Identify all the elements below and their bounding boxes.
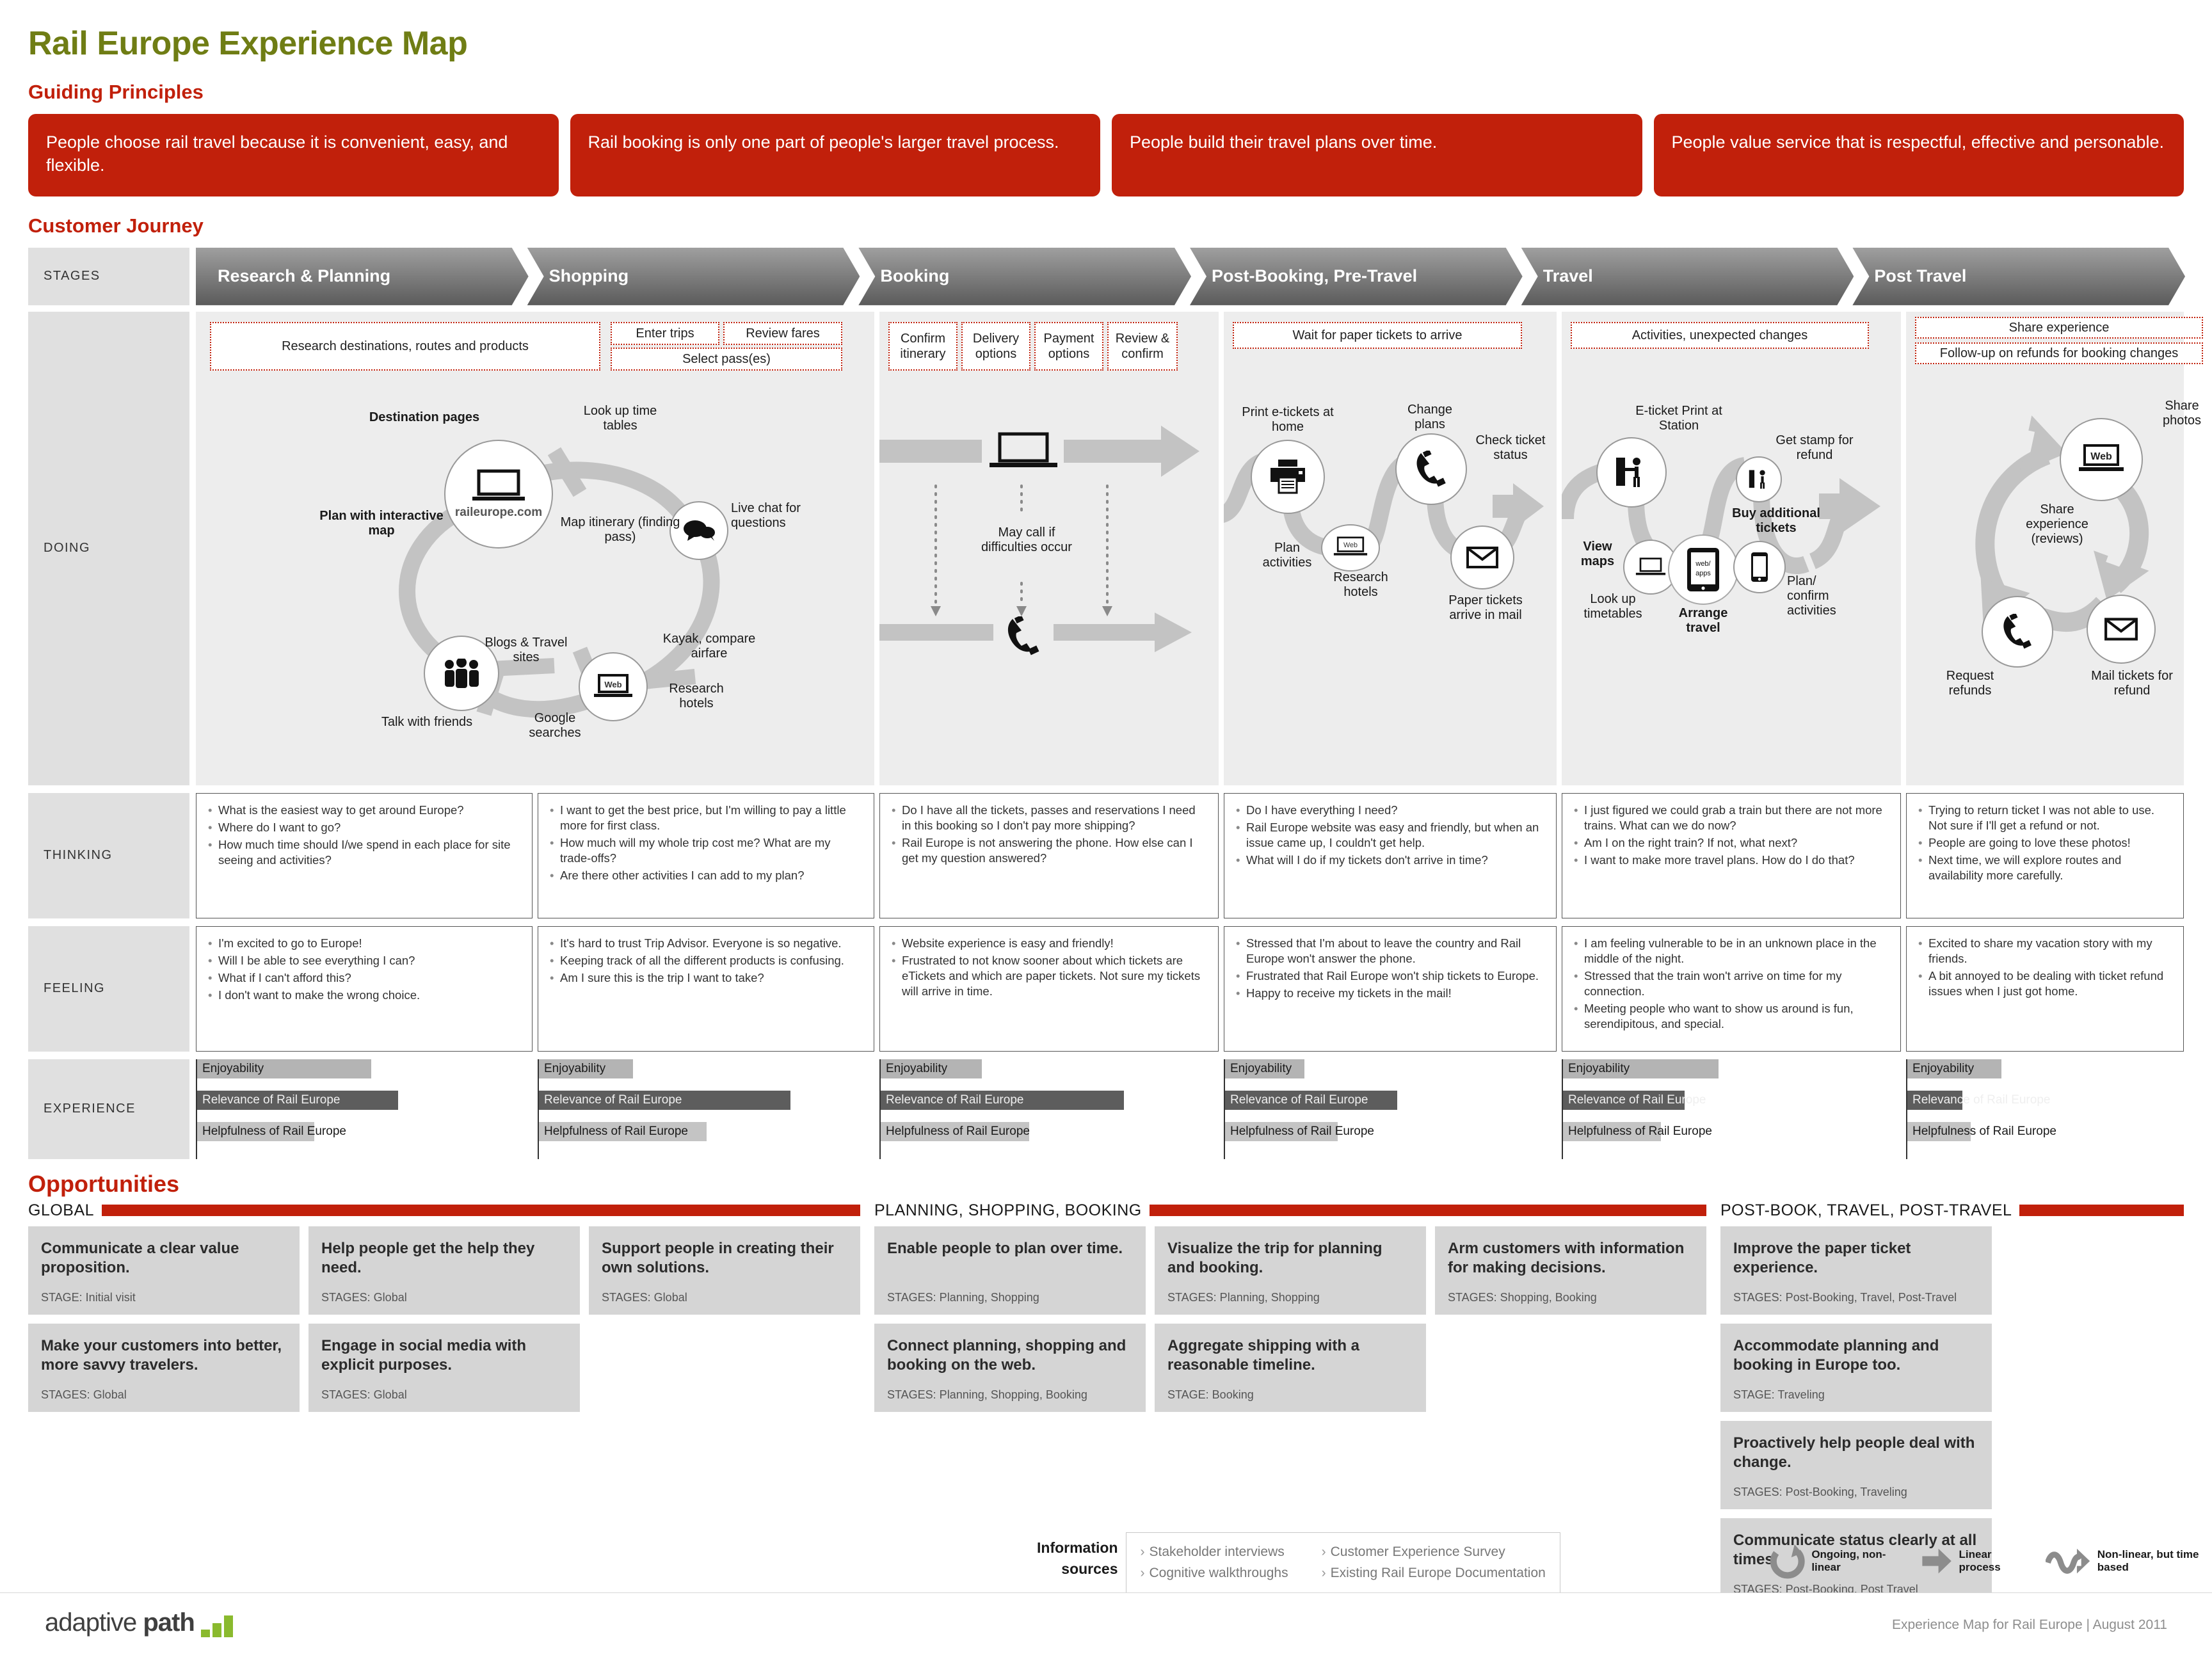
- node-booking-laptop[interactable]: [988, 432, 1059, 472]
- task-row-booking: Confirm itinerary Delivery options Payme…: [879, 312, 1219, 381]
- label-talk-with-friends: Talk with friends: [379, 715, 475, 730]
- bar-helpfulness: Helpfulness of Rail Europe: [1563, 1122, 1661, 1141]
- opportunity-group-rule: [1150, 1205, 1706, 1216]
- feeling-group-research-shopping: I'm excited to go to Europe! Will I be a…: [196, 926, 874, 1052]
- guiding-principles-row: People choose rail travel because it is …: [28, 114, 2184, 196]
- task-share-experience[interactable]: Share experience: [1915, 317, 2203, 339]
- doing-row: DOING Research destinations, routes and …: [28, 312, 2184, 785]
- opportunity-card[interactable]: Enable people to plan over time. STAGES:…: [874, 1226, 1146, 1315]
- doing-canvas-booking: May call if difficulties occur: [879, 381, 1219, 765]
- envelope-icon: [2104, 616, 2138, 642]
- opportunity-group-label: PLANNING, SHOPPING, BOOKING: [874, 1201, 1142, 1220]
- svg-text:apps: apps: [1695, 570, 1711, 577]
- customer-journey-heading: Customer Journey: [28, 214, 2184, 237]
- thinking-group-research-shopping: What is the easiest way to get around Eu…: [196, 793, 874, 918]
- information-sources-label-line1: Information: [1037, 1537, 1118, 1559]
- label-kayak-compare-airfare: Kayak, compare airfare: [652, 632, 767, 661]
- row-label-feeling: FEELING: [28, 926, 189, 1052]
- task-confirm-itinerary[interactable]: Confirm itinerary: [888, 322, 958, 371]
- information-sources-label-line2: sources: [1037, 1559, 1118, 1580]
- stage-post-booking[interactable]: Post-Booking, Pre-Travel: [1190, 248, 1523, 305]
- information-sources-col2: Customer Experience Survey Existing Rail…: [1322, 1542, 1546, 1583]
- list-item: What will I do if my tickets don't arriv…: [1235, 853, 1546, 868]
- opportunity-title: Arm customers with information for makin…: [1448, 1239, 1694, 1278]
- list-item: Do I have everything I need?: [1235, 803, 1546, 818]
- opportunity-stages: STAGE: Traveling: [1733, 1388, 1979, 1402]
- bar-helpfulness: Helpfulness of Rail Europe: [197, 1122, 314, 1141]
- label-may-call-difficulties: May call if difficulties occur: [975, 525, 1078, 555]
- laptop-icon: [988, 432, 1059, 469]
- label-google-searches: Google searches: [507, 711, 603, 741]
- label-arrange-travel: Arrange travel: [1665, 606, 1741, 636]
- opportunity-title: Help people get the help they need.: [321, 1239, 567, 1278]
- opportunity-card[interactable]: Accommodate planning and booking in Euro…: [1720, 1324, 1992, 1412]
- bar-relevance: Relevance of Rail Europe: [197, 1091, 398, 1110]
- thinking-card-post-travel: Trying to return ticket I was not able t…: [1906, 793, 2184, 918]
- list-item: I want to get the best price, but I'm wi…: [549, 803, 863, 833]
- label-plan-activities: Plan activities: [1252, 541, 1322, 570]
- brand-text: adaptive path: [45, 1608, 195, 1637]
- circular-arrow-icon: [1767, 1537, 1806, 1585]
- legend-item-linear: Linear process: [1920, 1541, 2024, 1581]
- task-review-confirm[interactable]: Review & confirm: [1107, 322, 1178, 371]
- legend: Ongoing, non-linear Linear process Non-l…: [1767, 1537, 2212, 1585]
- bar-helpfulness: Helpfulness of Rail Europe: [1225, 1122, 1338, 1141]
- node-share-photos-web[interactable]: Web: [2060, 418, 2143, 501]
- experience-chart: Enjoyability Relevance of Rail Europe He…: [196, 1059, 2184, 1159]
- opportunity-card-placeholder: [1435, 1324, 1706, 1412]
- feeling-card-travel: I am feeling vulnerable to be in an unkn…: [1562, 926, 1901, 1052]
- node-eticket-print-station[interactable]: [1596, 437, 1667, 508]
- information-sources-box: Stakeholder interviews Cognitive walkthr…: [1126, 1532, 1560, 1593]
- label-view-maps: View maps: [1571, 540, 1624, 569]
- label-share-photos: Share photos: [2144, 399, 2212, 428]
- opportunity-title: Enable people to plan over time.: [887, 1239, 1133, 1258]
- bar-helpfulness: Helpfulness of Rail Europe: [539, 1122, 707, 1141]
- opportunity-card[interactable]: Improve the paper ticket experience. STA…: [1720, 1226, 1992, 1315]
- task-activities-changes[interactable]: Activities, unexpected changes: [1571, 322, 1869, 349]
- guiding-principle-card: People value service that is respectful,…: [1654, 114, 2184, 196]
- laptop-web-icon: Web: [2078, 444, 2125, 475]
- opportunity-title: Engage in social media with explicit pur…: [321, 1336, 567, 1375]
- thinking-card-booking: Do I have all the tickets, passes and re…: [879, 793, 1219, 918]
- guiding-principle-card: Rail booking is only one part of people'…: [570, 114, 1101, 196]
- bar-relevance: Relevance of Rail Europe: [881, 1091, 1124, 1110]
- row-label-thinking: THINKING: [28, 793, 189, 918]
- task-review-fares[interactable]: Review fares: [723, 322, 842, 345]
- label-mail-tickets-refund: Mail tickets for refund: [2090, 669, 2174, 698]
- opportunity-card[interactable]: Aggregate shipping with a reasonable tim…: [1155, 1324, 1426, 1412]
- feeling-card-post-booking: Stressed that I'm about to leave the cou…: [1224, 926, 1557, 1052]
- label-map-itinerary: Map itinerary (finding pass): [559, 515, 681, 545]
- opportunity-card[interactable]: Make your customers into better, more sa…: [28, 1324, 300, 1412]
- experience-col-post-travel: Enjoyability Relevance of Rail Europe He…: [1906, 1059, 2184, 1159]
- guiding-principle-card: People choose rail travel because it is …: [28, 114, 559, 196]
- doing-post-travel-panel: Share experience Follow-up on refunds fo…: [1906, 312, 2184, 785]
- feeling-card-research-planning: I'm excited to go to Europe! Will I be a…: [196, 926, 533, 1052]
- information-sources: Information sources Stakeholder intervie…: [1037, 1532, 1560, 1593]
- label-print-etickets-home: Print e-tickets at home: [1238, 405, 1338, 435]
- journey-grid: STAGES Research & Planning Shopping Book…: [28, 248, 2184, 1159]
- node-get-stamp-refund[interactable]: [1736, 456, 1782, 502]
- opportunity-title: Communicate a clear value proposition.: [41, 1239, 287, 1278]
- opportunity-stages: STAGES: Global: [321, 1388, 567, 1402]
- feeling-card-post-travel: Excited to share my vacation story with …: [1906, 926, 2184, 1052]
- feeling-card-booking: Website experience is easy and friendly!…: [879, 926, 1219, 1052]
- kiosk-person-icon: [1747, 467, 1770, 492]
- experience-col-shopping: Enjoyability Relevance of Rail Europe He…: [538, 1059, 874, 1159]
- straight-arrow-icon: [1920, 1541, 1953, 1581]
- node-mail-tickets-refund[interactable]: [2087, 595, 2156, 664]
- doing-post-booking-panel: Wait for paper tickets to arrive: [1224, 312, 1557, 785]
- opportunity-stages: STAGES: Planning, Shopping, Booking: [887, 1388, 1133, 1402]
- list-item: Frustrated to not know sooner about whic…: [890, 953, 1208, 999]
- task-row-post-booking: Wait for paper tickets to arrive: [1224, 312, 1557, 381]
- stage-research-planning[interactable]: Research & Planning: [196, 248, 529, 305]
- bar-relevance: Relevance of Rail Europe: [1225, 1091, 1397, 1110]
- list-item: Rail Europe website was easy and friendl…: [1235, 820, 1546, 851]
- experience-map-page: Rail Europe Experience Map Guiding Princ…: [0, 0, 2212, 1659]
- opportunity-card[interactable]: Support people in creating their own sol…: [589, 1226, 860, 1315]
- phone-handset-icon: [2001, 614, 2034, 650]
- doing-research-shopping-panel: Research destinations, routes and produc…: [196, 312, 874, 785]
- task-followup-refunds[interactable]: Follow-up on refunds for booking changes: [1915, 342, 2203, 364]
- stage-post-travel[interactable]: Post Travel: [1852, 248, 2185, 305]
- experience-col-research-planning: Enjoyability Relevance of Rail Europe He…: [196, 1059, 533, 1159]
- information-sources-label: Information sources: [1037, 1532, 1126, 1593]
- label-eticket-print-station: E-ticket Print at Station: [1631, 404, 1727, 433]
- kiosk-person-icon: [1615, 455, 1648, 490]
- opportunity-group-header: GLOBAL: [28, 1201, 860, 1220]
- label-request-refunds: Request refunds: [1932, 669, 2008, 698]
- printer-icon: [1268, 458, 1308, 495]
- node-booking-phone[interactable]: [1005, 616, 1042, 659]
- list-item: Are there other activities I can add to …: [549, 868, 863, 883]
- experience-row: EXPERIENCE Enjoyability Relevance of Rai…: [28, 1059, 2184, 1159]
- label-check-ticket-status: Check ticket status: [1466, 433, 1555, 463]
- node-arrange-travel-tablet[interactable]: web/ apps: [1668, 534, 1738, 605]
- task-enter-trips[interactable]: Enter trips: [611, 322, 719, 345]
- list-item: Cognitive walkthroughs: [1141, 1563, 1288, 1584]
- legend-item-nonlinear: Non-linear, but time based: [2046, 1541, 2212, 1581]
- phone-handset-icon: [1414, 451, 1448, 488]
- list-item: What if I can't afford this?: [207, 970, 522, 986]
- opportunity-stages: STAGES: Global: [41, 1388, 287, 1402]
- label-research-hotels: Research hotels: [652, 682, 741, 711]
- bar-enjoyability: Enjoyability: [197, 1059, 371, 1078]
- bar-relevance: Relevance of Rail Europe: [539, 1091, 790, 1110]
- brand-bold: path: [143, 1608, 194, 1637]
- list-item: Existing Rail Europe Documentation: [1322, 1563, 1546, 1584]
- laptop-icon: [1635, 557, 1667, 577]
- bar-relevance: Relevance of Rail Europe: [1907, 1091, 1962, 1110]
- opportunity-title: Visualize the trip for planning and book…: [1167, 1239, 1413, 1278]
- flow-ring-research: [196, 381, 874, 765]
- stages-row: STAGES Research & Planning Shopping Book…: [28, 248, 2184, 305]
- opportunity-card[interactable]: Help people get the help they need. STAG…: [309, 1226, 580, 1315]
- bar-enjoyability: Enjoyability: [1225, 1059, 1304, 1078]
- list-item: Meeting people who want to show us aroun…: [1573, 1001, 1890, 1032]
- thinking-row: THINKING What is the easiest way to get …: [28, 793, 2184, 918]
- label-get-stamp-refund: Get stamp for refund: [1773, 433, 1856, 463]
- bar-helpfulness: Helpfulness of Rail Europe: [1907, 1122, 1971, 1141]
- list-item: Customer Experience Survey: [1322, 1542, 1546, 1563]
- task-research-destinations[interactable]: Research destinations, routes and produc…: [210, 322, 600, 371]
- adaptive-path-logo: adaptive path: [45, 1608, 242, 1637]
- node-raileurope-laptop[interactable]: raileurope.com: [444, 440, 553, 549]
- label-look-up-time-tables: Look up time tables: [566, 404, 675, 433]
- stage-travel[interactable]: Travel: [1521, 248, 1854, 305]
- opportunity-stages: STAGES: Planning, Shopping: [887, 1291, 1133, 1304]
- opportunity-stages: STAGE: Initial visit: [41, 1291, 287, 1304]
- bar-enjoyability: Enjoyability: [1907, 1059, 2001, 1078]
- list-item: Where do I want to go?: [207, 820, 522, 835]
- label-buy-additional-tickets: Buy additional tickets: [1722, 506, 1831, 536]
- opportunity-card[interactable]: Communicate a clear value proposition. S…: [28, 1226, 300, 1315]
- list-item: Trying to return ticket I was not able t…: [1917, 803, 2173, 833]
- opportunity-group-label: POST-BOOK, TRAVEL, POST-TRAVEL: [1720, 1201, 2012, 1220]
- opportunity-stages: STAGES: Post-Booking, Travel, Post-Trave…: [1733, 1291, 1979, 1304]
- list-item: Stressed that I'm about to leave the cou…: [1235, 936, 1546, 966]
- label-paper-tickets-arrive: Paper tickets arrive in mail: [1438, 593, 1534, 623]
- list-item: Am I on the right train? If not, what ne…: [1573, 835, 1890, 851]
- list-item: Will I be able to see everything I can?: [207, 953, 522, 968]
- opportunity-group-header: POST-BOOK, TRAVEL, POST-TRAVEL: [1720, 1201, 2184, 1220]
- svg-text:Web: Web: [604, 680, 621, 689]
- doing-canvas-research: raileurope.com: [196, 381, 874, 765]
- wavy-arrow-icon: [2046, 1541, 2092, 1581]
- information-sources-col1: Stakeholder interviews Cognitive walkthr…: [1141, 1542, 1288, 1583]
- opportunity-group-header: PLANNING, SHOPPING, BOOKING: [874, 1201, 1706, 1220]
- guiding-principle-card: People build their travel plans over tim…: [1112, 114, 1642, 196]
- bar-enjoyability: Enjoyability: [881, 1059, 982, 1078]
- row-label-stages: STAGES: [28, 248, 189, 305]
- envelope-icon: [1466, 545, 1499, 570]
- list-item: I am feeling vulnerable to be in an unkn…: [1573, 936, 1890, 966]
- doing-canvas-travel: web/ apps E-ticket: [1562, 381, 1901, 765]
- task-row-research-shopping: Research destinations, routes and produc…: [196, 312, 874, 381]
- list-item: A bit annoyed to be dealing with ticket …: [1917, 968, 2173, 999]
- doing-canvas-post-travel: Web: [1906, 381, 2184, 765]
- task-row-post-travel: Share experience Follow-up on refunds fo…: [1906, 312, 2184, 381]
- list-item: Stakeholder interviews: [1141, 1542, 1288, 1563]
- list-item: Stressed that the train won't arrive on …: [1573, 968, 1890, 999]
- svg-text:web/: web/: [1695, 560, 1711, 568]
- doing-travel-panel: Activities, unexpected changes: [1562, 312, 1901, 785]
- opportunity-card[interactable]: Arm customers with information for makin…: [1435, 1226, 1706, 1315]
- opportunity-card[interactable]: Connect planning, shopping and booking o…: [874, 1324, 1146, 1412]
- post-travel-ring: [1906, 381, 2212, 765]
- legend-label: Non-linear, but time based: [2097, 1548, 2212, 1575]
- opportunity-stages: STAGES: Shopping, Booking: [1448, 1291, 1694, 1304]
- label-blogs-travel-sites: Blogs & Travel sites: [475, 636, 577, 665]
- opportunity-card-placeholder: [589, 1324, 860, 1412]
- node-caption: raileurope.com: [455, 506, 542, 520]
- thinking-card-shopping: I want to get the best price, but I'm wi…: [538, 793, 874, 918]
- task-row-travel: Activities, unexpected changes: [1562, 312, 1901, 381]
- label-change-plans: Change plans: [1393, 403, 1467, 432]
- node-paper-tickets-mail[interactable]: [1450, 525, 1514, 589]
- list-item: Next time, we will explore routes and av…: [1917, 853, 2173, 883]
- row-label-doing: DOING: [28, 312, 189, 785]
- experience-col-booking: Enjoyability Relevance of Rail Europe He…: [879, 1059, 1219, 1159]
- experience-col-travel: Enjoyability Relevance of Rail Europe He…: [1562, 1059, 1901, 1159]
- node-request-refunds-phone[interactable]: [1982, 596, 2053, 668]
- legend-item-ongoing: Ongoing, non-linear: [1767, 1537, 1898, 1585]
- list-item: I want to make more travel plans. How do…: [1573, 853, 1890, 868]
- thinking-card-travel: I just figured we could grab a train but…: [1562, 793, 1901, 918]
- thinking-card-post-booking: Do I have everything I need? Rail Europe…: [1224, 793, 1557, 918]
- stage-shopping[interactable]: Shopping: [527, 248, 860, 305]
- node-change-plans-phone[interactable]: [1395, 433, 1467, 505]
- label-destination-pages: Destination pages: [364, 410, 485, 425]
- opportunity-stages: STAGES: Global: [321, 1291, 567, 1304]
- label-live-chat-questions: Live chat for questions: [731, 501, 833, 531]
- doing-booking-panel: Confirm itinerary Delivery options Payme…: [879, 312, 1219, 785]
- laptop-web-icon: Web: [593, 674, 633, 700]
- svg-text:Web: Web: [1343, 541, 1358, 549]
- experience-col-post-booking: Enjoyability Relevance of Rail Europe He…: [1224, 1059, 1557, 1159]
- bar-enjoyability: Enjoyability: [1563, 1059, 1719, 1078]
- list-item: Do I have all the tickets, passes and re…: [890, 803, 1208, 833]
- list-item: Website experience is easy and friendly!: [890, 936, 1208, 951]
- list-item: Rail Europe is not answering the phone. …: [890, 835, 1208, 866]
- stage-booking[interactable]: Booking: [858, 248, 1191, 305]
- feeling-card-shopping: It's hard to trust Trip Advisor. Everyon…: [538, 926, 874, 1052]
- opportunity-title: Make your customers into better, more sa…: [41, 1336, 287, 1375]
- opportunity-title: Accommodate planning and booking in Euro…: [1733, 1336, 1979, 1375]
- opportunity-card[interactable]: Engage in social media with explicit pur…: [309, 1324, 580, 1412]
- node-plan-confirm-phone[interactable]: [1733, 541, 1786, 593]
- list-item: People are going to love these photos!: [1917, 835, 2173, 851]
- opportunity-title: Connect planning, shopping and booking o…: [887, 1336, 1133, 1375]
- list-item: I'm excited to go to Europe!: [207, 936, 522, 951]
- laptop-web-icon: Web: [1333, 536, 1368, 559]
- task-select-pass[interactable]: Select pass(es): [611, 348, 842, 371]
- adaptive-path-mark-icon: [201, 1615, 242, 1637]
- doing-canvas-post-booking: Web Print e-tickets at home Change plan: [1224, 381, 1557, 765]
- row-label-experience: EXPERIENCE: [28, 1059, 189, 1159]
- phone-handset-icon: [1005, 616, 1042, 656]
- legend-label: Ongoing, non-linear: [1811, 1548, 1898, 1575]
- opportunities-heading: Opportunities: [28, 1171, 2184, 1198]
- list-item: Frustrated that Rail Europe won't ship t…: [1235, 968, 1546, 984]
- task-payment-options[interactable]: Payment options: [1034, 322, 1103, 371]
- task-wait-paper-tickets[interactable]: Wait for paper tickets to arrive: [1233, 322, 1522, 349]
- opportunity-stages: STAGES: Planning, Shopping: [1167, 1291, 1413, 1304]
- label-share-experience-reviews: Share experience (reviews): [2012, 502, 2102, 547]
- opportunity-title: Improve the paper ticket experience.: [1733, 1239, 1979, 1278]
- task-delivery-options[interactable]: Delivery options: [961, 322, 1030, 371]
- node-plan-activities-web[interactable]: Web: [1321, 524, 1380, 572]
- opportunity-group-label: GLOBAL: [28, 1201, 94, 1220]
- list-item: Am I sure this is the trip I want to tak…: [549, 970, 863, 986]
- opportunity-card[interactable]: Visualize the trip for planning and book…: [1155, 1226, 1426, 1315]
- svg-text:Web: Web: [2090, 451, 2112, 462]
- footer-bar: adaptive path Experience Map for Rail Eu…: [0, 1592, 2212, 1659]
- experience-group-research-shopping: Enjoyability Relevance of Rail Europe He…: [196, 1059, 874, 1159]
- tablet-webapps-icon: web/ apps: [1686, 547, 1720, 593]
- list-item: What is the easiest way to get around Eu…: [207, 803, 522, 818]
- thinking-card-research-planning: What is the easiest way to get around Eu…: [196, 793, 533, 918]
- list-item: Keeping track of all the different produ…: [549, 953, 863, 968]
- list-item: I don't want to make the wrong choice.: [207, 988, 522, 1003]
- list-item: It's hard to trust Trip Advisor. Everyon…: [549, 936, 863, 951]
- list-item: Excited to share my vacation story with …: [1917, 936, 2173, 966]
- opportunity-title: Aggregate shipping with a reasonable tim…: [1167, 1336, 1413, 1375]
- opportunity-card[interactable]: Proactively help people deal with change…: [1720, 1421, 1992, 1509]
- bar-helpfulness: Helpfulness of Rail Europe: [881, 1122, 1029, 1141]
- legend-label: Linear process: [1959, 1548, 2024, 1575]
- label-look-up-timetables: Look up timetables: [1569, 592, 1656, 621]
- opportunity-stages: STAGE: Booking: [1167, 1388, 1413, 1402]
- opportunity-stages: STAGES: Global: [602, 1291, 847, 1304]
- opportunity-stages: STAGES: Post-Booking, Traveling: [1733, 1486, 1979, 1499]
- opportunity-title: Proactively help people deal with change…: [1733, 1434, 1979, 1472]
- bar-relevance: Relevance of Rail Europe: [1563, 1091, 1685, 1110]
- opportunity-title: Support people in creating their own sol…: [602, 1239, 847, 1278]
- opportunity-group-rule: [102, 1205, 860, 1216]
- brand-light: adaptive: [45, 1608, 143, 1637]
- list-item: How much time should I/we spend in each …: [207, 837, 522, 868]
- footer-credit: Experience Map for Rail Europe | August …: [1892, 1617, 2167, 1633]
- chat-bubbles-icon: [682, 519, 716, 542]
- label-research-hotels-pb: Research hotels: [1322, 570, 1399, 600]
- laptop-icon: [471, 469, 526, 504]
- list-item: Happy to receive my tickets in the mail!: [1235, 986, 1546, 1001]
- list-item: I just figured we could grab a train but…: [1573, 803, 1890, 833]
- smartphone-icon: [1750, 551, 1769, 583]
- list-item: How much will my whole trip cost me? Wha…: [549, 835, 863, 866]
- footer-zone: Information sources Stakeholder intervie…: [0, 1518, 2212, 1659]
- node-print-etickets[interactable]: [1251, 440, 1325, 514]
- label-plan-interactive-map: Plan with interactive map: [317, 509, 445, 538]
- label-plan-confirm-activities: Plan/ confirm activities: [1787, 574, 1859, 618]
- feeling-row: FEELING I'm excited to go to Europe! Wil…: [28, 926, 2184, 1052]
- page-title: Rail Europe Experience Map: [28, 0, 2184, 63]
- guiding-principles-heading: Guiding Principles: [28, 81, 2184, 104]
- bar-enjoyability: Enjoyability: [539, 1059, 633, 1078]
- opportunity-group-rule: [2019, 1205, 2184, 1216]
